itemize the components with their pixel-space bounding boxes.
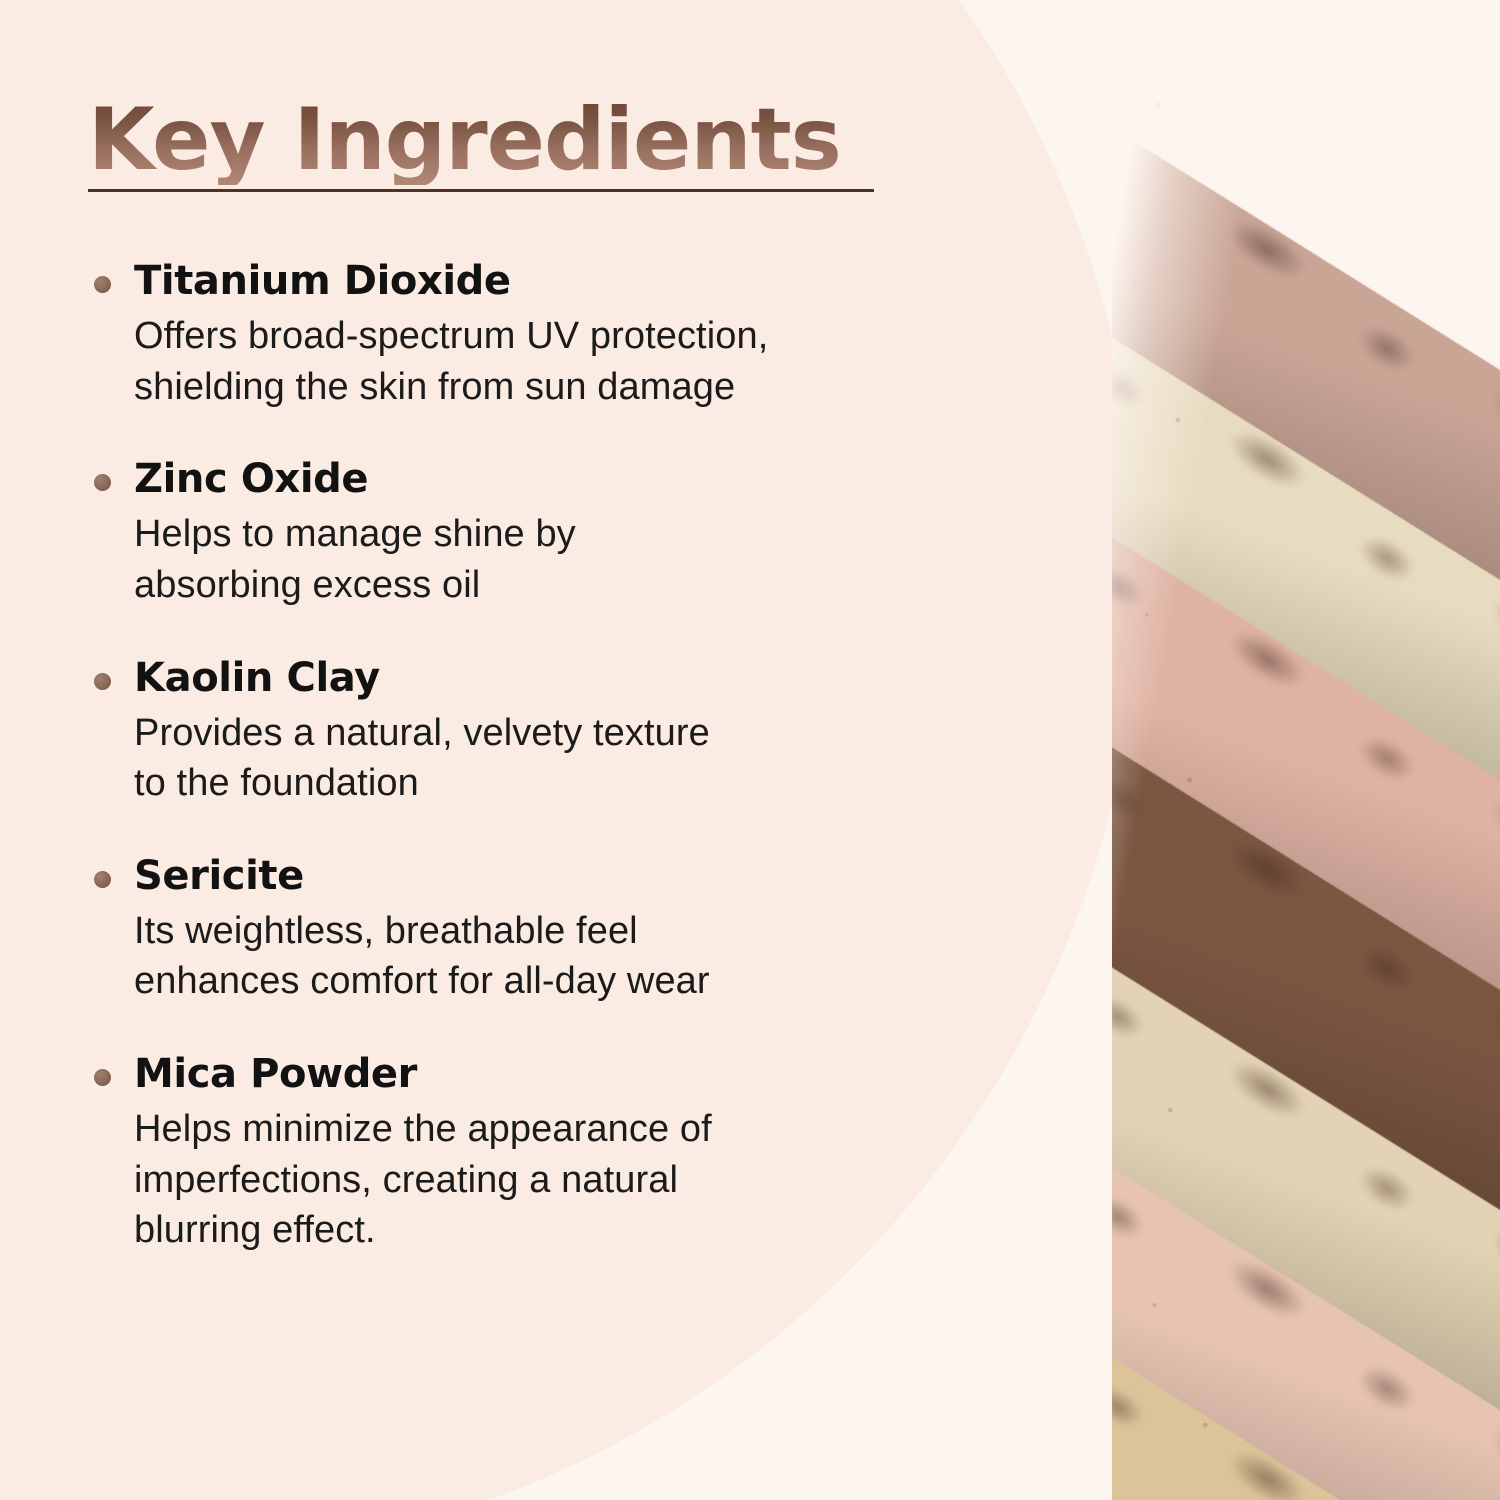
- ingredient-name: Zinc Oxide: [134, 456, 988, 503]
- ingredient-description: Helps minimize the appearance of imperfe…: [134, 1104, 988, 1256]
- ingredient-description: Helps to manage shine by absorbing exces…: [134, 509, 988, 610]
- ingredient-name: Mica Powder: [134, 1051, 988, 1098]
- ingredient-description: Offers broad-spectrum UV protection, shi…: [134, 311, 988, 412]
- ingredient-item: Titanium DioxideOffers broad-spectrum UV…: [88, 258, 988, 412]
- ingredient-item: Zinc OxideHelps to manage shine by absor…: [88, 456, 988, 610]
- bullet-icon: [94, 673, 111, 690]
- ingredient-description: Provides a natural, velvety texture to t…: [134, 708, 988, 809]
- ingredient-list: Titanium DioxideOffers broad-spectrum UV…: [88, 258, 988, 1256]
- ingredient-item: Mica PowderHelps minimize the appearance…: [88, 1051, 988, 1256]
- page-title: Key Ingredients: [88, 96, 888, 185]
- ingredients-infographic: Key Ingredients Titanium DioxideOffers b…: [0, 0, 1500, 1500]
- bullet-icon: [94, 276, 111, 293]
- bullet-icon: [94, 474, 111, 491]
- ingredient-name: Sericite: [134, 853, 988, 900]
- ingredient-item: Kaolin ClayProvides a natural, velvety t…: [88, 655, 988, 809]
- page-title-block: Key Ingredients: [88, 96, 888, 192]
- bullet-icon: [94, 1069, 111, 1086]
- ingredient-description: Its weightless, breathable feel enhances…: [134, 906, 988, 1007]
- ingredient-item: SericiteIts weightless, breathable feel …: [88, 853, 988, 1007]
- ingredient-name: Titanium Dioxide: [134, 258, 988, 305]
- bullet-icon: [94, 871, 111, 888]
- powder-swatch-image: [1112, 0, 1500, 1500]
- ingredient-name: Kaolin Clay: [134, 655, 988, 702]
